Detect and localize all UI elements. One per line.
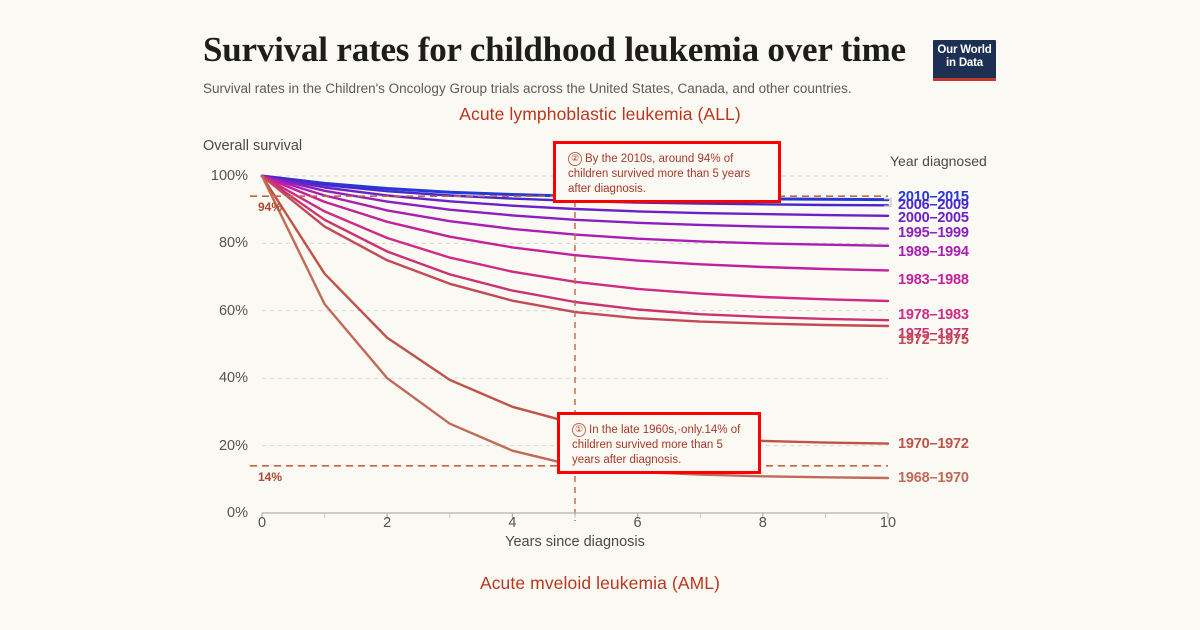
y-tick-label: 100%	[192, 168, 248, 184]
legend-title: Year diagnosed	[890, 153, 987, 169]
annotation-text-1: In the late 1960s,·only.14% of children …	[572, 424, 740, 466]
x-tick-label: 6	[634, 515, 642, 531]
y-tick-label: 0%	[192, 505, 248, 521]
legend-item-1989-1994[interactable]: 1989–1994	[898, 244, 969, 260]
annotation-text-2: By the 2010s, around 94% of children sur…	[568, 153, 750, 195]
legend-item-1972-1975[interactable]: 1972–1975	[898, 332, 969, 348]
annotation-marker-1: ①	[572, 423, 586, 437]
value-label-94: 94%	[258, 200, 282, 214]
y-tick-label: 80%	[192, 235, 248, 251]
x-tick-label: 8	[759, 515, 767, 531]
y-tick-label: 20%	[192, 438, 248, 454]
annotation-box-1: ①In the late 1960s,·only.14% of children…	[557, 412, 761, 474]
x-tick-label: 0	[258, 515, 266, 531]
y-axis-ticks: 0%20%40%60%80%100%	[192, 0, 248, 630]
legend-item-1970-1972[interactable]: 1970–1972	[898, 436, 969, 452]
legend-item-1978-1983[interactable]: 1978–1983	[898, 307, 969, 323]
x-tick-label: 4	[508, 515, 516, 531]
legend-item-2000-2005[interactable]: 2000–2005	[898, 210, 969, 226]
y-tick-label: 60%	[192, 303, 248, 319]
legend-item-1968-1970[interactable]: 1968–1970	[898, 470, 969, 486]
legend-item-1995-1999[interactable]: 1995–1999	[898, 225, 969, 241]
legend-item-1983-1988[interactable]: 1983–1988	[898, 272, 969, 288]
chart-page: Survival rates for childhood leukemia ov…	[0, 0, 1200, 630]
x-tick-label: 2	[383, 515, 391, 531]
annotation-box-2: ②By the 2010s, around 94% of children su…	[553, 141, 781, 203]
annotation-marker-2: ②	[568, 152, 582, 166]
value-label-14: 14%	[258, 470, 282, 484]
x-tick-label: 10	[880, 515, 896, 531]
y-tick-label: 40%	[192, 370, 248, 386]
x-axis-title: Years since diagnosis	[262, 534, 888, 550]
